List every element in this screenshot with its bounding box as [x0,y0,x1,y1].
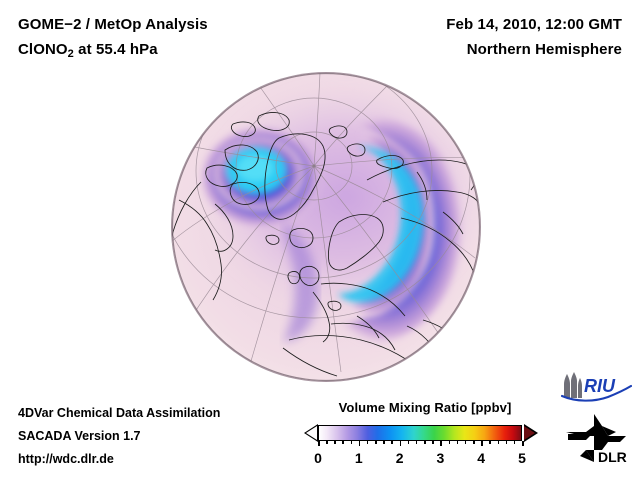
footer-left: 4DVar Chemical Data Assimilation SACADA … [18,402,220,471]
colorbar-tick [351,441,353,444]
colorbar-tick [334,441,336,444]
pressure-level: at 55.4 hPa [74,41,158,58]
riu-logo: RIU [560,372,632,402]
colorbar-tick [375,441,377,444]
colorbar-tick [342,441,344,444]
header-left: GOME−2 / MetOp Analysis ClONO2 at 55.4 h… [18,12,208,67]
colorbar-tick [408,441,410,444]
region-label: Northern Hemisphere [446,37,622,62]
colorbar-tick [465,441,467,444]
colorbar-tick-label: 5 [518,450,526,466]
colorbar-gradient-box [318,425,522,441]
colorbar-tick-label: 3 [436,450,444,466]
colorbar-tick [481,441,483,446]
riu-towers-icon [564,372,582,398]
colorbar-tick-label: 4 [477,450,485,466]
colorbar-tick [367,441,369,444]
riu-wordmark: RIU [584,376,616,396]
colorbar-tick [416,441,418,444]
colorbar-tick [473,441,475,444]
colorbar-ticks [318,441,522,446]
colorbar-tick [432,441,434,444]
colorbar-tick [383,441,385,444]
colorbar-tick [457,441,459,444]
dlr-logo: DLR [564,412,630,466]
colorbar-tick [449,441,451,444]
colorbar-tick [359,441,361,446]
colorbar-gradient [319,426,521,440]
globe-map [171,72,481,382]
colorbar-max-arrow-fill [524,426,535,440]
header-right: Feb 14, 2010, 12:00 GMT Northern Hemisph… [446,12,622,62]
colorbar: Volume Mixing Ratio [ppbv] 012345 [302,400,548,470]
species-name: ClONO [18,41,68,58]
colorbar-title: Volume Mixing Ratio [ppbv] [302,400,548,415]
method-label: 4DVar Chemical Data Assimilation [18,402,220,425]
colorbar-tick [400,441,402,446]
colorbar-min-arrow-fill [306,426,317,440]
colorbar-tick [424,441,426,444]
colorbar-tick-labels: 012345 [302,450,548,470]
source-url[interactable]: http://wdc.dlr.de [18,448,220,471]
colorbar-scale [302,421,548,447]
page-title: GOME−2 / MetOp Analysis [18,12,208,37]
colorbar-tick [391,441,393,444]
colorbar-tick [522,441,524,446]
colorbar-tick [318,441,320,446]
colorbar-tick [498,441,500,444]
colorbar-tick [326,441,328,444]
globe-disc [171,72,481,382]
figure-canvas: GOME−2 / MetOp Analysis ClONO2 at 55.4 h… [0,0,640,480]
dlr-wordmark: DLR [598,449,627,465]
colorbar-tick [514,441,516,444]
colorbar-tick [489,441,491,444]
colorbar-tick [440,441,442,446]
colorbar-tick-label: 2 [396,450,404,466]
datetime-label: Feb 14, 2010, 12:00 GMT [446,12,622,37]
species-level-label: ClONO2 at 55.4 hPa [18,37,208,67]
colorbar-tick-label: 0 [314,450,322,466]
riu-logo-mark: RIU [560,372,632,402]
map-render [171,72,481,382]
colorbar-tick [506,441,508,444]
dlr-logo-mark: DLR [564,412,630,466]
north-pole-marker [312,164,315,167]
colorbar-tick-label: 1 [355,450,363,466]
version-label: SACADA Version 1.7 [18,425,220,448]
